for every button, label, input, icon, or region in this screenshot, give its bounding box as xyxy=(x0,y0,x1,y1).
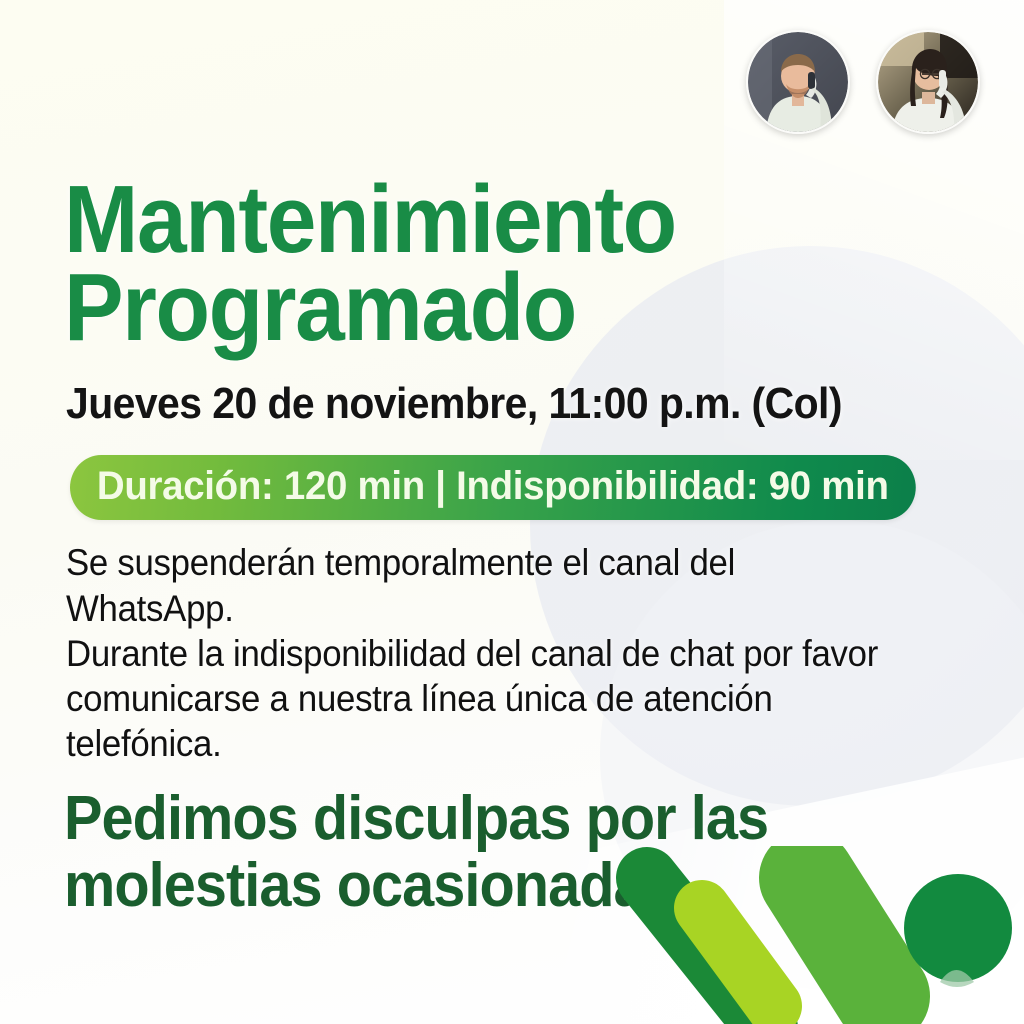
avatar-group xyxy=(746,30,980,134)
poster-content: Mantenimiento Programado Jueves 20 de no… xyxy=(64,0,964,920)
woman-on-phone-photo xyxy=(878,32,978,132)
headline-line-2: Programado xyxy=(64,264,901,352)
body-line-2: Durante la indisponibilidad del canal de… xyxy=(66,631,910,676)
body-line-3: comunicarse a nuestra línea única de ate… xyxy=(66,676,910,766)
man-on-phone-photo xyxy=(748,32,848,132)
brand-logo xyxy=(592,846,1012,1024)
maintenance-dateline: Jueves 20 de noviembre, 11:00 p.m. (Col) xyxy=(66,379,901,429)
body-copy: Se suspenderán temporalmente el canal de… xyxy=(66,540,910,766)
duration-badge: Duración: 120 min | Indisponibilidad: 90… xyxy=(70,455,916,521)
logo-stroke-mid-green xyxy=(807,878,882,996)
avatar xyxy=(876,30,980,134)
apology-line-1: Pedimos disculpas por las xyxy=(64,786,901,853)
logo-circle xyxy=(904,874,1012,982)
body-line-1: Se suspenderán temporalmente el canal de… xyxy=(66,540,910,630)
brand-w-logo xyxy=(592,846,1012,1024)
maintenance-announcement-poster: Mantenimiento Programado Jueves 20 de no… xyxy=(0,0,1024,1024)
avatar xyxy=(746,30,850,134)
